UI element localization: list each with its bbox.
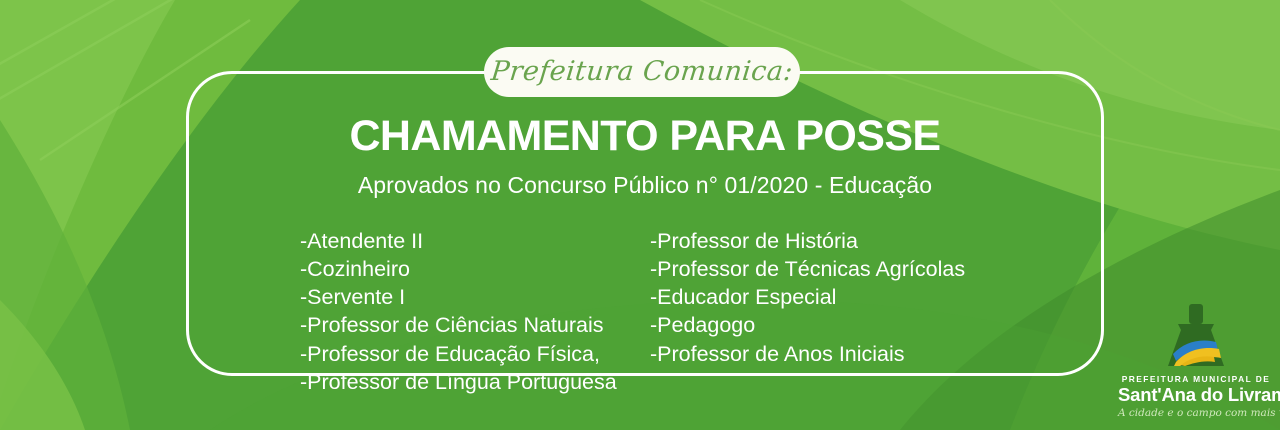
positions-list-left: -Atendente II -Cozinheiro -Servente I -P…	[297, 227, 643, 396]
list-item: -Educador Especial	[650, 283, 993, 311]
logo-line-city: Sant'Ana do Livramento	[1118, 384, 1274, 405]
list-item: -Professor de Ciências Naturais	[300, 311, 643, 339]
list-item: -Cozinheiro	[300, 255, 643, 283]
page-title: CHAMAMENTO PARA POSSE	[186, 115, 1104, 158]
list-item: -Professor de Educação Física,	[300, 340, 643, 368]
bell-emblem-icon	[1118, 302, 1274, 374]
content-block: CHAMAMENTO PARA POSSE Aprovados no Concu…	[186, 71, 1104, 376]
logo-tagline: A cidade e o campo com mais vigor!	[1118, 408, 1274, 420]
logo-line-prefeitura: PREFEITURA MUNICIPAL DE	[1118, 375, 1274, 383]
list-item: -Professor de Língua Portuguesa	[300, 368, 643, 396]
page-subtitle: Aprovados no Concurso Público n° 01/2020…	[186, 172, 1104, 199]
list-item: -Professor de Anos Iniciais	[650, 340, 993, 368]
banner-root: Prefeitura Comunica: CHAMAMENTO PARA POS…	[0, 0, 1280, 430]
positions-lists: -Atendente II -Cozinheiro -Servente I -P…	[186, 227, 1104, 396]
positions-list-right: -Professor de História -Professor de Téc…	[643, 227, 993, 396]
list-item: -Servente I	[300, 283, 643, 311]
list-item: -Professor de Técnicas Agrícolas	[650, 255, 993, 283]
city-logo: PREFEITURA MUNICIPAL DE Sant'Ana do Livr…	[1118, 302, 1274, 424]
list-item: -Professor de História	[650, 227, 993, 255]
list-item: -Pedagogo	[650, 311, 993, 339]
list-item: -Atendente II	[300, 227, 643, 255]
